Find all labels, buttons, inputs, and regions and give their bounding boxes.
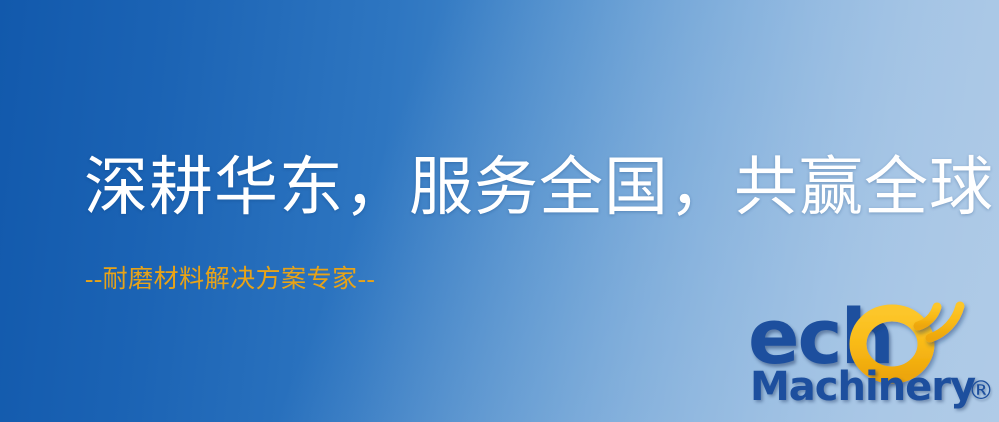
logo-mark-graphic — [744, 296, 999, 422]
banner-subtitle: --耐磨材料解决方案专家-- — [85, 265, 375, 295]
page-title: 深耕华东，服务全国，共赢全球 — [84, 152, 994, 224]
promo-banner: 深耕华东，服务全国，共赢全球 --耐磨材料解决方案专家-- ech — [0, 0, 999, 422]
company-logo[interactable]: ech Machinery — [744, 296, 999, 422]
